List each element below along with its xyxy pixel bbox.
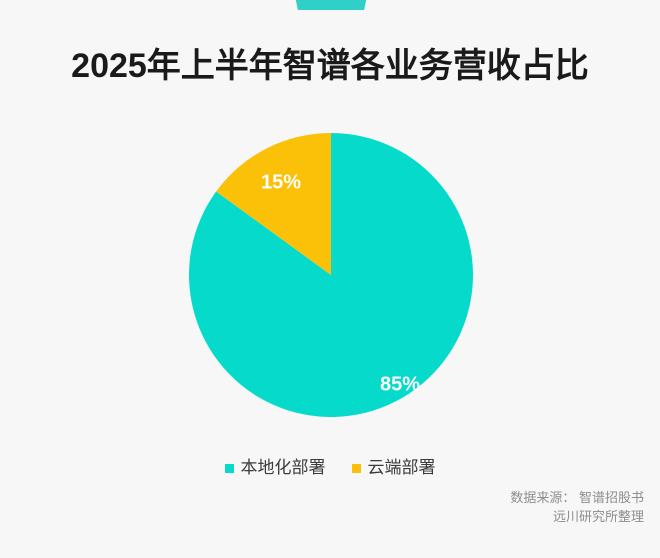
pie-label-cloud-deployment: 15% bbox=[261, 171, 301, 193]
source-line-1: 数据来源： 智谱招股书 bbox=[510, 488, 644, 507]
source-line-2: 远川研究所整理 bbox=[510, 507, 644, 526]
legend-item-cloud-deployment[interactable]: 云端部署 bbox=[352, 458, 436, 478]
pie-slice-local-deployment[interactable] bbox=[189, 133, 473, 417]
pie-label-local-deployment: 85% bbox=[380, 373, 420, 395]
legend-swatch-icon bbox=[352, 464, 361, 473]
page-title: 2025年上半年智谱各业务营收占比 bbox=[0, 44, 660, 88]
legend-swatch-icon bbox=[225, 464, 234, 473]
source-note: 数据来源： 智谱招股书 远川研究所整理 bbox=[510, 488, 644, 526]
legend-label-local-deployment: 本地化部署 bbox=[241, 458, 326, 478]
legend-item-local-deployment[interactable]: 本地化部署 bbox=[225, 458, 326, 478]
chart-legend: 本地化部署 云端部署 bbox=[0, 458, 660, 478]
pie-slice-cloud-deployment[interactable] bbox=[216, 133, 331, 275]
trapezoid-accent-icon bbox=[295, 0, 367, 10]
legend-label-cloud-deployment: 云端部署 bbox=[368, 458, 436, 478]
top-decoration bbox=[0, 0, 660, 16]
